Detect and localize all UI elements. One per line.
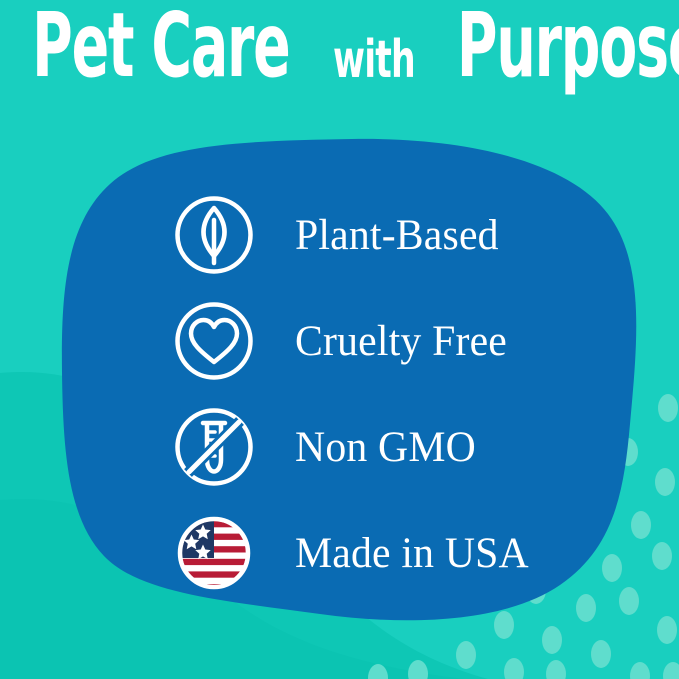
claim-row-made-in-usa: Made in USA [172,500,592,606]
claim-label-made-in-usa: Made in USA [295,532,529,575]
claim-row-plant-based: Plant-Based [172,182,592,288]
claim-label-non-gmo: Non GMO [295,426,476,469]
claim-row-non-gmo: Non GMO [172,394,592,500]
claim-row-cruelty-free: Cruelty Free [172,288,592,394]
usa-flag-icon [172,511,256,595]
claim-label-plant-based: Plant-Based [295,214,499,257]
heart-icon [172,299,256,383]
promo-banner: Pet CarewithPurpose® Plant-Based [0,0,679,679]
no-test-tube-icon [172,405,256,489]
claims-list: Plant-Based Cruelty Free [172,182,592,606]
claim-label-cruelty-free: Cruelty Free [295,320,507,363]
leaf-icon [172,193,256,277]
